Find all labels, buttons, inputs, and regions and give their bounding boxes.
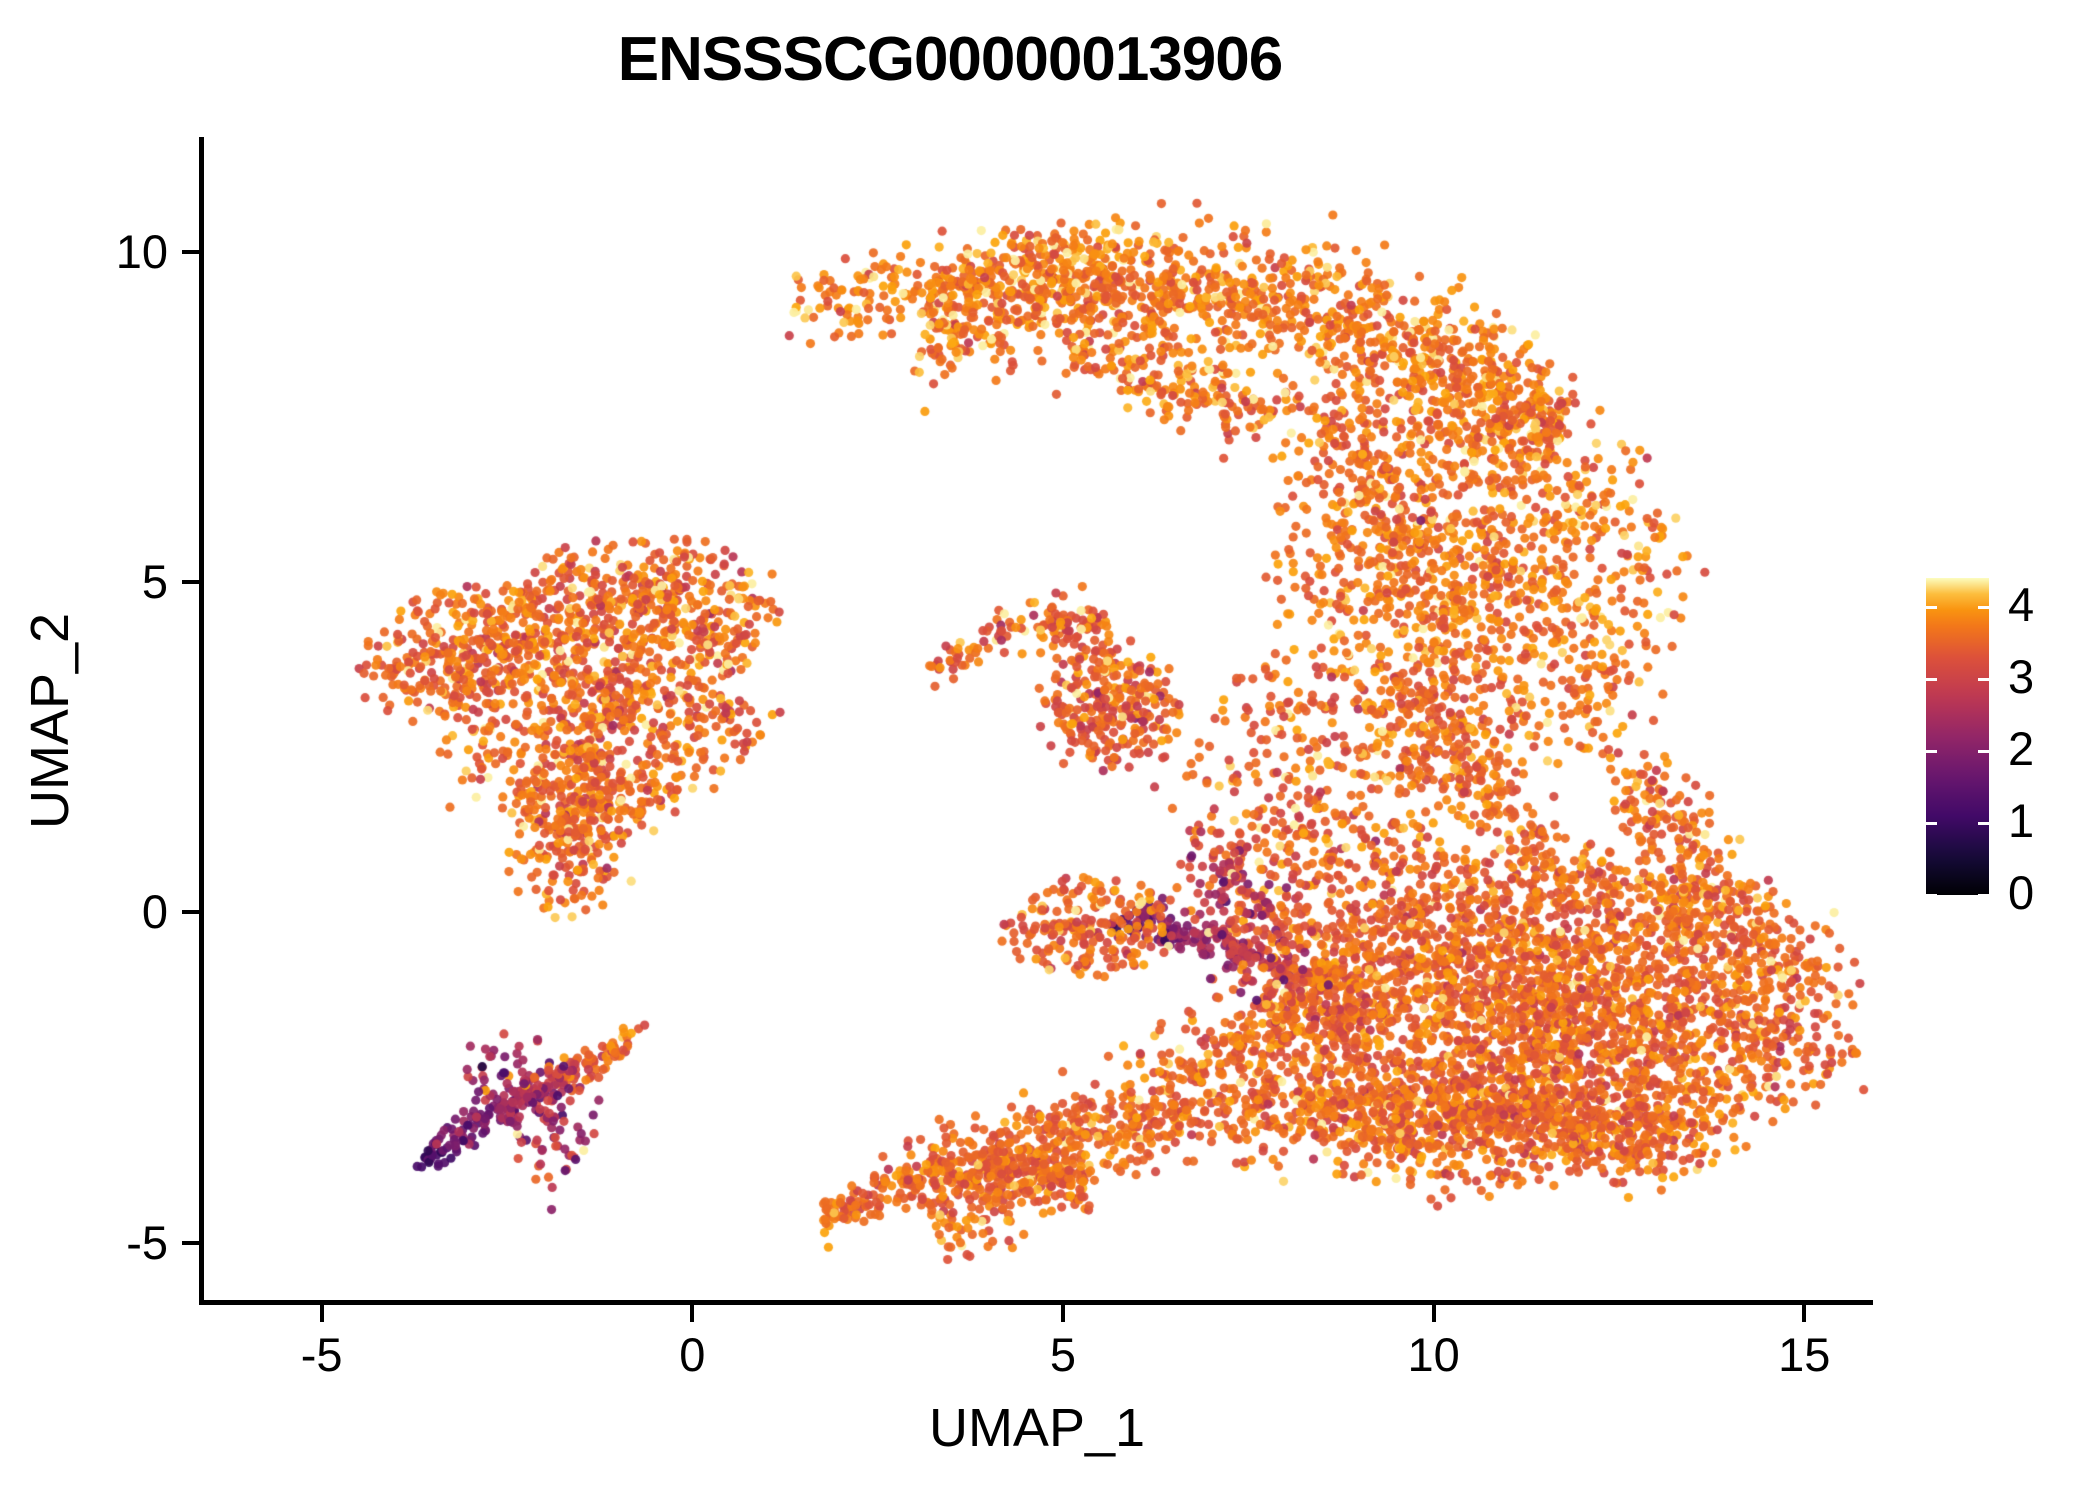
colorbar-tick-mark: [1926, 894, 1937, 897]
colorbar-legend: 43210: [1926, 578, 2086, 898]
colorbar-tick-mark: [1978, 678, 1989, 681]
colorbar-tick-label: 2: [2008, 725, 2034, 772]
colorbar-tick-label: 1: [2008, 797, 2034, 844]
x-tick-label: 0: [612, 1327, 772, 1382]
colorbar-tick-mark: [1926, 822, 1937, 825]
x-tick-mark: [1802, 1305, 1806, 1322]
x-tick-mark: [690, 1305, 694, 1322]
x-tick-label: 10: [1354, 1327, 1514, 1382]
x-axis-line: [199, 1300, 1873, 1305]
scatter-plot-panel: [203, 140, 1871, 1302]
x-tick-label: 5: [983, 1327, 1143, 1382]
x-tick-mark: [1061, 1305, 1065, 1322]
colorbar-tick-mark: [1978, 894, 1989, 897]
y-tick-mark: [182, 910, 199, 914]
x-tick-mark: [320, 1305, 324, 1322]
x-tick-mark: [1432, 1305, 1436, 1322]
x-axis-title: UMAP_1: [203, 1397, 1871, 1459]
colorbar-tick-mark: [1926, 678, 1937, 681]
scatter-point-cloud: [203, 140, 1871, 1302]
y-tick-mark: [182, 580, 199, 584]
colorbar-tick-mark: [1926, 750, 1937, 753]
colorbar-tick-mark: [1978, 606, 1989, 609]
y-tick-mark: [182, 1241, 199, 1245]
x-tick-label: -5: [242, 1327, 402, 1382]
plot-root: ENSSSCG00000013906 -5051015 -50510 UMAP_…: [0, 0, 2100, 1500]
y-axis-title: UMAP_2: [19, 141, 81, 1301]
y-axis-line: [199, 137, 204, 1305]
colorbar-gradient: [1926, 578, 1989, 895]
colorbar-tick-label: 0: [2008, 869, 2034, 916]
colorbar-tick-mark: [1926, 606, 1937, 609]
colorbar-tick-mark: [1978, 750, 1989, 753]
colorbar-tick-label: 4: [2008, 581, 2034, 628]
page-title: ENSSSCG00000013906: [0, 24, 1900, 95]
y-tick-mark: [182, 250, 199, 254]
colorbar-tick-label: 3: [2008, 653, 2034, 700]
colorbar-tick-mark: [1978, 822, 1989, 825]
x-tick-label: 15: [1724, 1327, 1884, 1382]
